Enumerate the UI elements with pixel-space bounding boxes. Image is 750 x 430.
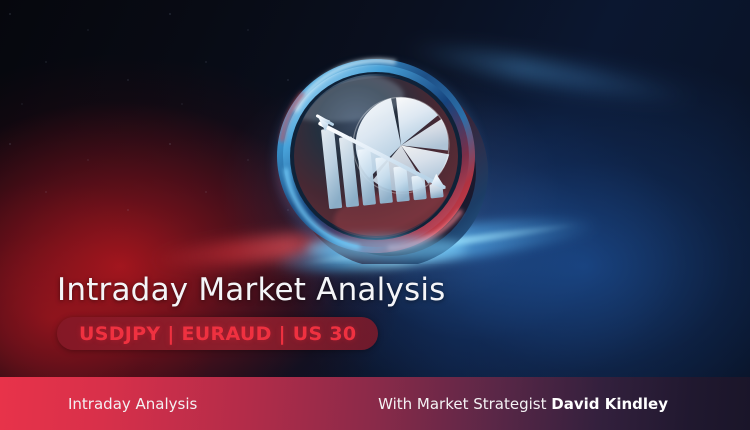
footer-left-label: Intraday Analysis [68, 395, 197, 413]
footer-strategist-prefix: With Market Strategist [378, 395, 551, 413]
analytics-coin-emblem [262, 52, 494, 264]
footer-right-label: With Market Strategist David Kindley [378, 395, 668, 413]
page-title: Intraday Market Analysis [57, 272, 446, 308]
footer-strategist-name: David Kindley [551, 395, 668, 413]
background-speckle-texture [0, 0, 300, 230]
instruments-badge: USDJPY | EURAUD | US 30 [57, 317, 378, 350]
instruments-badge-label: USDJPY | EURAUD | US 30 [79, 323, 356, 345]
footer-bar: Intraday Analysis With Market Strategist… [0, 377, 750, 430]
intraday-market-analysis-banner: Intraday Market Analysis USDJPY | EURAUD… [0, 0, 750, 430]
